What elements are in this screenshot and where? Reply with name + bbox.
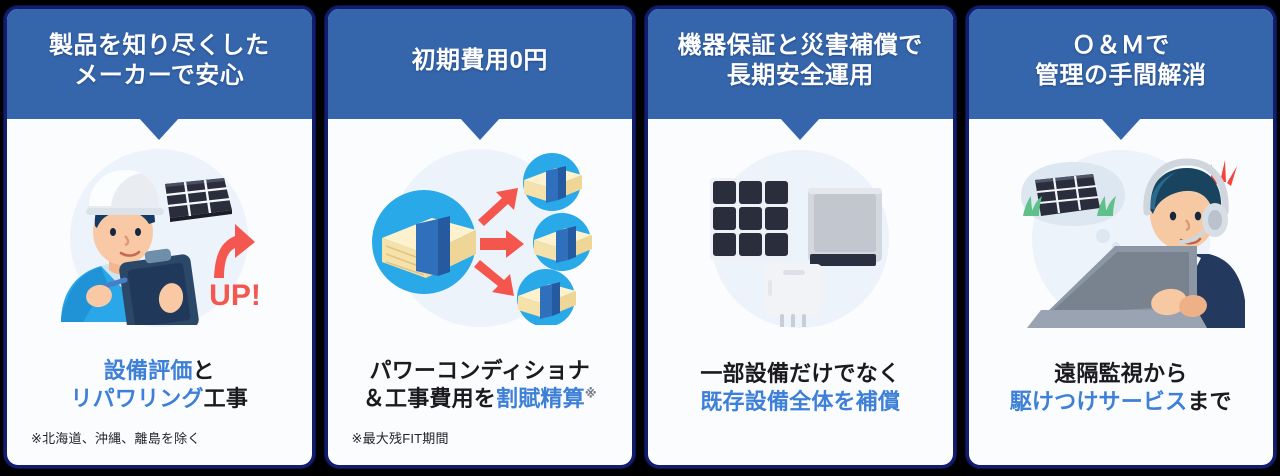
laptop-icon xyxy=(1027,246,1207,328)
card-header-banner: 初期費用0円 xyxy=(328,9,633,119)
large-cash-bundle-icon xyxy=(372,190,476,294)
caption-line-2: リパワリング工事 xyxy=(15,385,304,414)
caption-highlight-2: 駆けつけサービス xyxy=(1010,389,1188,414)
caption-line-1: 設備評価と xyxy=(15,357,304,386)
small-cash-bundle-2-icon xyxy=(533,213,592,271)
caption-plain: パワーコンディショナ xyxy=(370,358,590,383)
card-bottom-spacer xyxy=(648,447,953,465)
header-notch-triangle xyxy=(138,117,180,140)
card-caption: パワーコンディショナ ＆工事費用を割賦精算※ xyxy=(328,357,633,414)
card-bottom-spacer xyxy=(7,447,312,465)
caption-tail: と xyxy=(193,358,215,383)
engineer-illustration-svg: UP! xyxy=(39,150,279,325)
operator-illustration-svg xyxy=(997,150,1245,328)
card-header-title: Ｏ＆Ｍで 管理の手間解消 xyxy=(1035,31,1207,91)
benefit-card-om-management[interactable]: Ｏ＆Ｍで 管理の手間解消 xyxy=(966,6,1277,468)
card-caption: 一部設備だけでなく 既存設備全体を補償 xyxy=(648,360,953,417)
card-caption: 設備評価と リパワリング工事 xyxy=(7,357,312,414)
card-footnote xyxy=(969,417,1274,447)
card-footnote: ※最大残FIT期間 xyxy=(328,414,633,447)
caption-asterisk: ※ xyxy=(585,387,597,401)
card-header-title: 機器保証と災害補償で 長期安全運用 xyxy=(678,31,923,91)
caption-highlight-2: リパワリング xyxy=(70,386,203,411)
header-notch-triangle xyxy=(459,117,501,140)
equipment-illustration-svg xyxy=(680,152,920,327)
caption-plain: 一部設備だけでなく xyxy=(700,361,900,386)
caption-tail-2: 工事 xyxy=(204,386,248,411)
card-header-banner: 製品を知り尽くした メーカーで安心 xyxy=(7,9,312,119)
junction-box-icon xyxy=(764,264,822,327)
up-label: UP! xyxy=(209,279,261,312)
small-cash-bundle-3-icon xyxy=(517,269,576,325)
money-split-illustration-svg xyxy=(360,150,600,325)
caption-line-1: 一部設備だけでなく xyxy=(656,360,945,389)
card-header-title: 初期費用0円 xyxy=(412,46,548,76)
caption-highlight-2: 既存設備全体を補償 xyxy=(700,389,900,414)
power-conditioner-box-icon xyxy=(808,188,882,266)
caption-plain-2: ＆工事費用を xyxy=(363,386,496,411)
caption-tail-2: まで xyxy=(1187,389,1231,414)
benefit-card-manufacturer-trust[interactable]: 製品を知り尽くした メーカーで安心 UP! xyxy=(4,6,315,468)
red-arrow-right-icon xyxy=(480,230,524,258)
benefit-cards-board: 製品を知り尽くした メーカーで安心 UP! xyxy=(0,0,1280,476)
card-header-banner: 機器保証と災害補償で 長期安全運用 xyxy=(648,9,953,119)
red-arrow-up-icon xyxy=(478,188,518,226)
card-header-title: 製品を知り尽くした メーカーで安心 xyxy=(49,31,270,91)
illustration-money-split xyxy=(328,119,633,357)
benefit-card-warranty-disaster-coverage[interactable]: 機器保証と災害補償で 長期安全運用 xyxy=(645,6,956,468)
card-footnote xyxy=(648,417,953,447)
red-arrow-down-icon xyxy=(474,260,514,296)
card-bottom-spacer xyxy=(328,447,633,465)
card-footnote: ※北海道、沖縄、離島を除く xyxy=(7,414,312,447)
solar-panel-module-icon xyxy=(710,178,792,260)
illustration-solar-equipment-set xyxy=(648,119,953,360)
card-bottom-spacer xyxy=(969,447,1274,465)
solar-panel-icon xyxy=(165,178,232,222)
card-header-banner: Ｏ＆Ｍで 管理の手間解消 xyxy=(969,9,1274,119)
red-up-arrow-icon xyxy=(214,224,255,278)
small-cash-bundle-1-icon xyxy=(523,153,582,211)
caption-highlight-2: 割賦精算 xyxy=(496,386,585,411)
caption-line-2: 既存設備全体を補償 xyxy=(656,388,945,417)
header-notch-triangle xyxy=(1100,117,1142,140)
caption-line-2: 駆けつけサービスまで xyxy=(977,388,1266,417)
card-caption: 遠隔監視から 駆けつけサービスまで xyxy=(969,360,1274,417)
caption-plain: 遠隔監視から xyxy=(1054,361,1187,386)
benefit-card-zero-initial-cost[interactable]: 初期費用0円 xyxy=(325,6,636,468)
caption-line-1: パワーコンディショナ xyxy=(336,357,625,386)
red-arrows-group xyxy=(474,188,524,296)
caption-line-1: 遠隔監視から xyxy=(977,360,1266,389)
illustration-remote-monitoring-operator xyxy=(969,119,1274,360)
illustration-engineer-inspecting-solar-panel: UP! xyxy=(7,119,312,357)
caption-line-2: ＆工事費用を割賦精算※ xyxy=(336,385,625,414)
header-notch-triangle xyxy=(779,117,821,140)
caption-highlight: 設備評価 xyxy=(104,358,193,383)
